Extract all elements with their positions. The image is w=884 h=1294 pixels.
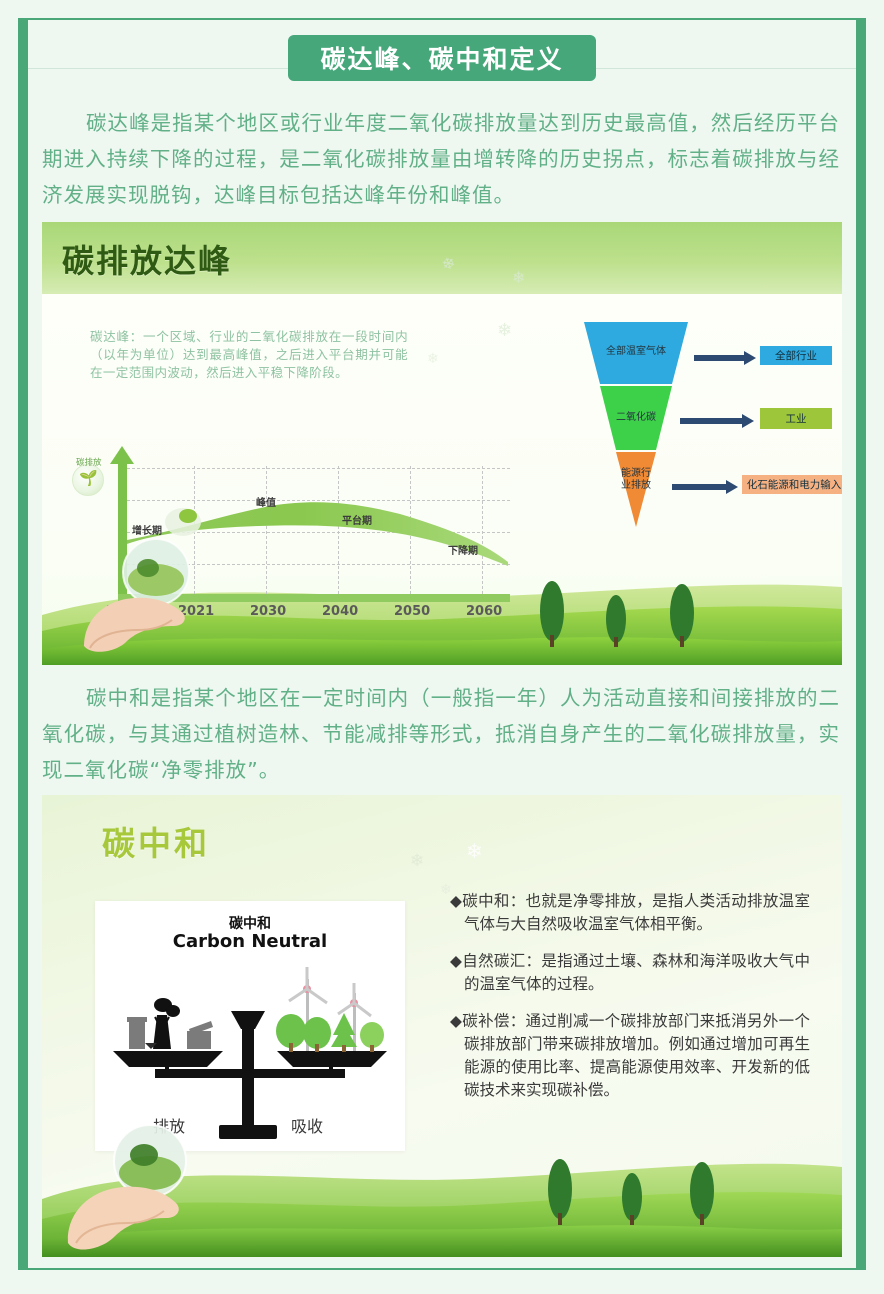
funnel-target-1: 工业 (760, 408, 832, 429)
figure-carbon-neutral: 碳中和 ❄ ❄ ❄ 碳中和 Carbon Neutral (42, 795, 842, 1257)
page-border-bottom (18, 1268, 866, 1270)
figure1-header-band: 碳排放达峰 ❄ ❄ (42, 222, 842, 294)
funnel-stage-label-2: 能源行 业排放 (608, 468, 664, 492)
dove-icon: ❄ (512, 268, 525, 288)
funnel-target-2: 化石能源和电力输入 (742, 475, 842, 494)
hand-holding-globe-icon (60, 534, 250, 664)
figure-carbon-peak: 碳排放达峰 ❄ ❄ ❄ ❄ 碳达峰：一个区域、行业的二氧化碳排放在一段时间内（以… (42, 222, 842, 665)
figure1-title: 碳排放达峰 (62, 236, 232, 282)
hand-holding-globe-icon (42, 1117, 252, 1257)
chart-xtick-4: 2050 (394, 604, 430, 619)
page-border-left (18, 18, 28, 1270)
bullet-item: ◆碳补偿：通过削减一个碳排放部门来抵消另外一个碳排放部门带来碳排放增加。例如通过… (450, 1010, 810, 1102)
bullet-item: ◆自然碳汇：是指通过土壤、森林和海洋吸收大气中的温室气体的过程。 (450, 950, 810, 996)
chart-xtick-5: 2060 (466, 604, 502, 619)
figure1-description: 碳达峰：一个区域、行业的二氧化碳排放在一段时间内（以年为单位）达到最高峰值，之后… (90, 328, 408, 382)
funnel-target-0: 全部行业 (760, 346, 832, 365)
dove-icon: ❄ (427, 350, 439, 367)
page-border-right (856, 18, 866, 1270)
carbon-neutral-card: 碳中和 Carbon Neutral (95, 901, 405, 1151)
dove-icon: ❄ (466, 839, 483, 864)
card-title-cn: 碳中和 (95, 913, 405, 933)
figure2-title: 碳中和 (102, 817, 210, 865)
chart-annotation-2: 平台期 (342, 512, 372, 527)
dove-icon: ❄ (497, 320, 512, 341)
chart-xtick-3: 2040 (322, 604, 358, 619)
page-border-top (18, 18, 866, 20)
bullet-item: ◆碳中和：也就是净零排放，是指人类活动排放温室气体与大自然吸收温室气体相平衡。 (450, 890, 810, 936)
page-root: 碳达峰、碳中和定义 碳达峰是指某个地区或行业年度二氧化碳排放量达到历史最高值，然… (0, 0, 884, 1294)
page-title: 碳达峰、碳中和定义 (288, 35, 596, 81)
chart-xtick-2: 2030 (250, 604, 286, 619)
chart-annotation-1: 峰值 (256, 494, 276, 509)
funnel-stage-label-0: 全部温室气体 (588, 346, 684, 358)
card-title-en: Carbon Neutral (95, 931, 405, 952)
chart-annotation-3: 下降期 (448, 542, 478, 557)
paragraph-carbon-neutral: 碳中和是指某个地区在一定时间内（一般指一年）人为活动直接和间接排放的二氧化碳，与… (42, 680, 840, 788)
bullet-text-1: ◆自然碳汇：是指通过土壤、森林和海洋吸收大气中的温室气体的过程。 (450, 950, 810, 996)
funnel-stage-label-1: 二氧化碳 (594, 412, 678, 424)
carbon-neutral-bullets: ◆碳中和：也就是净零排放，是指人类活动排放温室气体与大自然吸收温室气体相平衡。 … (450, 890, 810, 1116)
funnel-diagram: 全部温室气体 二氧化碳 能源行 业排放 全部行业 工业 化石能源和电力输入 (562, 322, 832, 532)
dove-icon: ❄ (439, 252, 458, 275)
bullet-text-2: ◆碳补偿：通过削减一个碳排放部门来抵消另外一个碳排放部门带来碳排放增加。例如通过… (450, 1010, 810, 1102)
paragraph-carbon-peak: 碳达峰是指某个地区或行业年度二氧化碳排放量达到历史最高值，然后经历平台期进入持续… (42, 105, 840, 213)
bullet-text-0: ◆碳中和：也就是净零排放，是指人类活动排放温室气体与大自然吸收温室气体相平衡。 (450, 890, 810, 936)
dove-icon: ❄ (410, 851, 424, 871)
